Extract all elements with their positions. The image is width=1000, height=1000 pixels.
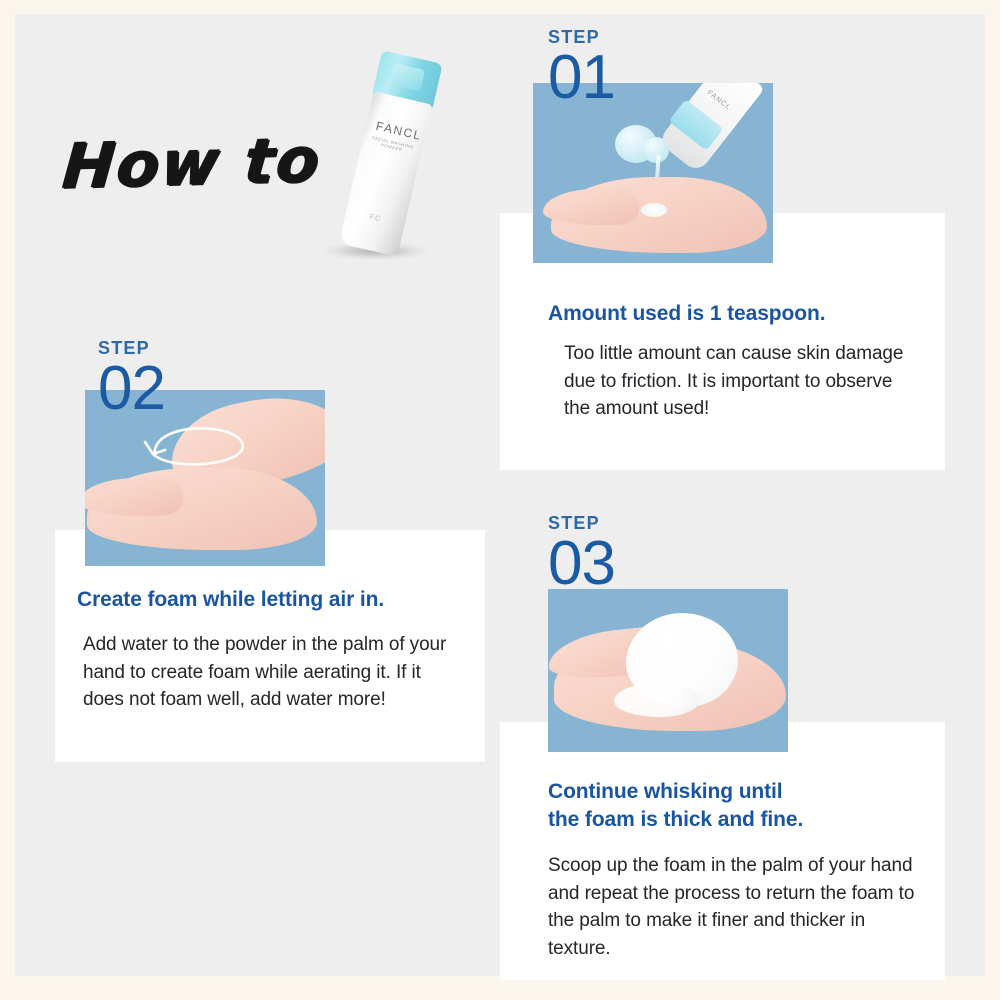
content-canvas: How to FANCL FACIAL WASHING POWDER FC ST… — [15, 14, 985, 976]
step-title-01: Amount used is 1 teaspoon. — [548, 300, 928, 328]
step-number-01: 01 — [548, 47, 615, 109]
powder-dollop — [641, 203, 667, 217]
product-bottle-image: FANCL FACIAL WASHING POWDER FC — [315, 44, 445, 274]
lower-fingers-graphic — [85, 478, 183, 516]
step-badge-03: STEP 03 — [548, 514, 615, 595]
step-photo-03 — [548, 589, 788, 752]
step-body-03: Scoop up the foam in the palm of your ha… — [548, 852, 930, 963]
page-title: How to — [60, 123, 324, 203]
bottle-mark-label: FC — [355, 210, 396, 226]
step-body-02: Add water to the powder in the palm of y… — [83, 631, 455, 714]
fingers-graphic — [543, 189, 639, 225]
step-number-02: 02 — [98, 358, 165, 420]
step-body-01: Too little amount can cause skin damage … — [564, 340, 909, 423]
circular-motion-arrow-icon — [121, 420, 257, 472]
step-title-03-line1: Continue whisking until — [548, 780, 783, 803]
page-root: How to FANCL FACIAL WASHING POWDER FC ST… — [0, 0, 1000, 1000]
step-badge-01: STEP 01 — [548, 28, 615, 109]
bottle-graphic: FANCL FACIAL WASHING POWDER FC — [338, 50, 443, 257]
foam-base-graphic — [614, 683, 700, 717]
step-number-03: 03 — [548, 533, 615, 595]
step-title-02: Create foam while letting air in. — [77, 586, 467, 614]
step-title-03-line2: the foam is thick and fine. — [548, 808, 803, 831]
step-badge-02: STEP 02 — [98, 339, 165, 420]
step-title-03: Continue whisking until the foam is thic… — [548, 778, 948, 833]
bottle-body: FANCL FACIAL WASHING POWDER FC — [339, 91, 433, 256]
